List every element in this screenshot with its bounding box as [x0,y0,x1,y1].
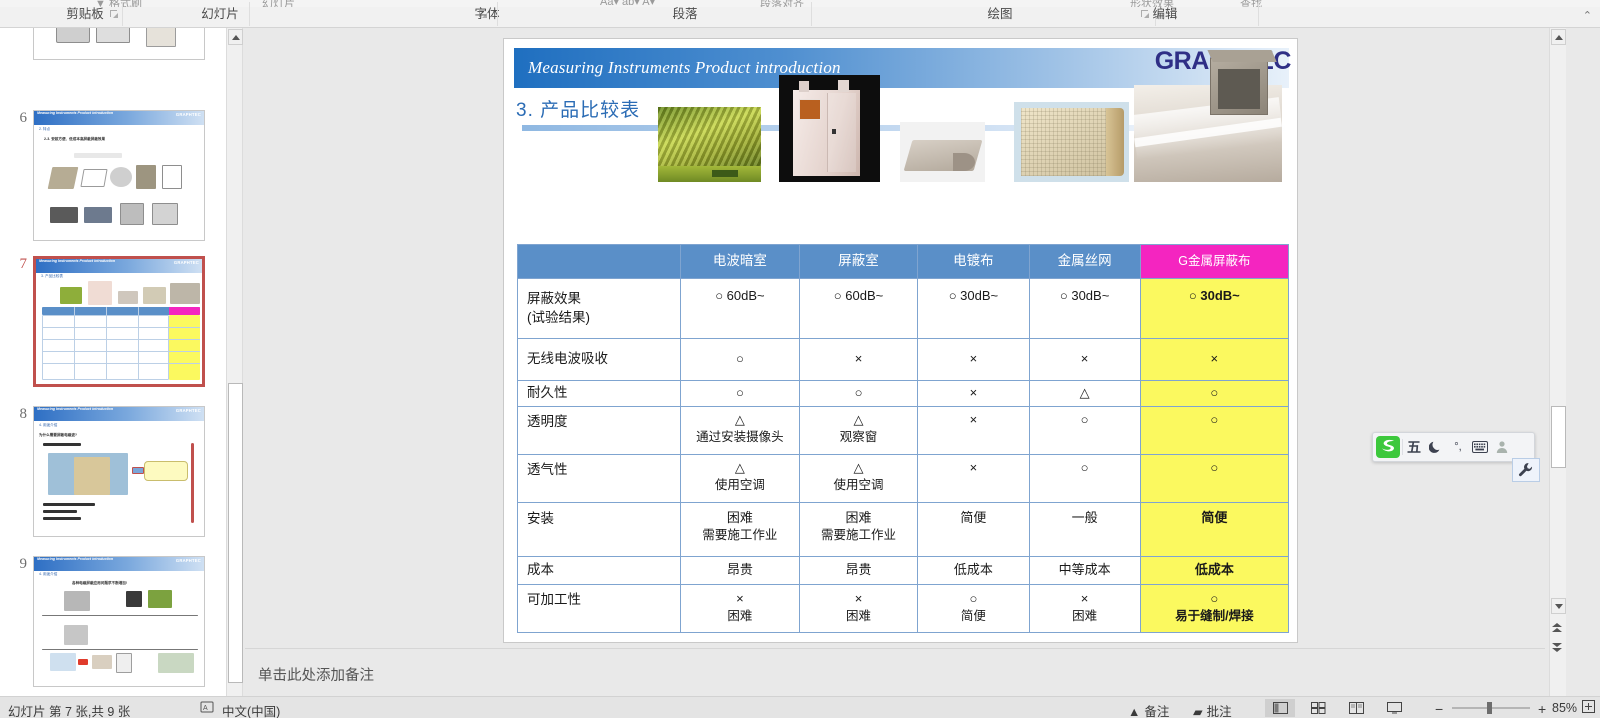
thumbnail-line: 2-3. 安装方便、低成本高屏蔽屏蔽效果 [44,137,105,142]
cell-sub: 观察窗 [802,429,916,446]
cell: △ [1029,381,1140,407]
view-slideshow-button[interactable] [1379,699,1409,717]
thumb-shape [48,167,79,189]
status-bar: 幻灯片 第 7 张,共 9 张 A 中文(中国) ▲备注 ▰批注 − + 85% [0,696,1600,718]
ribbon-group-label: 绘图 [987,7,1012,22]
thumbnail-banner: Measuring Instruments Product introducti… [34,111,204,125]
table-row: 可加工性 ×困难 ×困难 ○简便 ×困难 ○易于缝制/焊接 [518,585,1289,633]
thumbnail-subtitle: 4. 用途介绍 [39,572,57,577]
user-icon[interactable] [1491,434,1513,460]
chamber-shape [146,28,176,47]
cell-main: ○ [736,351,744,366]
thumbnail-line: 为什么需要屏蔽电磁波? [39,433,77,438]
thumb-divider [42,649,198,650]
row-label-cost: 成本 [518,557,681,585]
cell: 昂贵 [681,557,800,585]
table-row: 耐久性 ○ ○ × △ ○ [518,381,1289,407]
cell-main: ○ 30dB~ [949,288,998,303]
cell-main: × [1211,351,1219,366]
notes-toggle-label[interactable]: ▲备注 [1128,701,1169,718]
thumbnail-banner-title: Measuring Instruments Product introducti… [37,557,113,561]
table-header-row: 电波暗室 屏蔽室 电镀布 金属丝网 G金属屏蔽布 [518,245,1289,279]
row-label-transparency: 透明度 [518,407,681,455]
view-reading-button[interactable] [1341,699,1371,717]
slide-thumbnail-selected[interactable]: Measuring Instruments Product introducti… [33,256,205,387]
cell-sub: 困难 [683,608,797,625]
thumb-table-col-line [106,307,107,380]
scroll-down-button[interactable] [1551,598,1566,614]
cell-main: ○ [969,591,977,606]
monitor-shape [56,28,90,43]
table-row: 无线电波吸收 ○ × × × × [518,339,1289,381]
cell-main: ○ 60dB~ [834,288,883,303]
cell-main: △ [735,412,745,427]
thumb-shape [74,153,122,158]
cell: × [918,455,1029,503]
cell-main: × [855,351,863,366]
cell-main: ○ [1210,591,1218,606]
thumbnail-row-9[interactable]: 9 Measuring Instruments Product introduc… [0,556,226,687]
cell: ○ [681,339,800,381]
next-slide-button[interactable] [1549,640,1566,655]
slide-heading: 3. 产品比较表 [516,95,640,122]
wubi-mode-icon[interactable]: 五 [1403,434,1425,460]
ribbon-group-label: 编辑 [1152,7,1177,22]
thumb-table-col-line [138,307,139,380]
thumb-table-highlight-col [169,315,200,380]
font-dialog-launcher-icon[interactable] [479,10,488,19]
table-header-shieldroom: 屏蔽室 [799,245,918,279]
cell-main: × [970,460,978,475]
slide-thumbnail[interactable] [33,28,205,60]
cell: ○简便 [918,585,1029,633]
cell-main: △ [1080,385,1090,400]
cell-main: △ [854,460,864,475]
double-caret-up-icon [1552,623,1563,633]
cell: ○ 30dB~ [1029,279,1140,339]
cell-main: ○ [855,385,863,400]
current-slide[interactable]: Measuring Instruments Product introducti… [503,38,1298,643]
sogou-logo-icon[interactable] [1374,434,1402,460]
cell: ○ 60dB~ [681,279,800,339]
cell-main: 低成本 [1195,562,1234,577]
thumbnail-banner: Measuring Instruments Product introducti… [34,407,204,421]
thumbnail-subtitle: 2. 特点 [39,127,50,132]
ribbon-separator [122,2,123,26]
cell: △使用空调 [799,455,918,503]
cell-main: × [970,351,978,366]
toolbox-wrench-icon[interactable] [1512,458,1540,482]
thumb-photo [158,653,194,673]
cell: △通过安装摄像头 [681,407,800,455]
double-caret-down-icon [1552,643,1563,653]
laptop-shape [96,28,130,43]
clip-label-2: Aa▾ ab▾ A▾ [600,0,655,7]
scrollbar-thumb[interactable] [228,383,243,683]
notes-toggle-text: 备注 [1144,705,1169,718]
table-row: 透明度 △通过安装摄像头 △观察窗 × ○ ○ [518,407,1289,455]
ribbon-group-slides: 幻灯片 [155,7,285,28]
thumb-photo [126,591,142,607]
ribbon-group-label: 幻灯片 [201,7,239,22]
cell-main: 困难 [846,510,872,525]
view-normal-button[interactable] [1265,699,1295,717]
cell-highlight: × [1140,339,1288,381]
thumb-shape [110,167,132,187]
thumb-bullet [43,443,81,446]
table-row: 屏蔽效果 (试验结果) ○ 60dB~ ○ 60dB~ ○ 30dB~ ○ 30… [518,279,1289,339]
svg-text:A: A [203,705,208,712]
thumb-brace [191,443,194,523]
thumb-photo [92,655,112,669]
cell-sub: 困难 [802,608,916,625]
slide-thumbnail[interactable]: Measuring Instruments Product introducti… [33,110,205,241]
cell-main: 中等成本 [1059,562,1111,577]
slide-thumbnail[interactable]: Measuring Instruments Product introducti… [33,406,205,537]
anechoic-chamber-photo[interactable] [658,107,761,182]
comments-toggle-text: 批注 [1207,705,1232,718]
thumb-table-col-line [74,307,75,380]
cell: 简便 [918,503,1029,557]
cell-sub: 使用空调 [683,477,797,494]
cell: ○ [1029,455,1140,503]
cell-highlight: ○易于缝制/焊接 [1140,585,1288,633]
cell: × [918,381,1029,407]
cell-main: ○ 60dB~ [715,288,764,303]
cell: ×困难 [799,585,918,633]
thumb-shape [84,207,112,223]
cell-main: 简便 [960,510,986,525]
row-sublabel-text: (试验结果) [527,310,590,325]
thumbnail-number: 9 [0,556,33,573]
thumbnail-subtitle: 4. 用途介绍 [39,423,57,428]
slide-edit-pane[interactable]: Measuring Instruments Product introducti… [245,28,1545,648]
clip-label-1: 幻灯片 [262,0,295,7]
cell: × [1029,339,1140,381]
notes-splitter[interactable] [245,648,1545,651]
row-label-processability: 可加工性 [518,585,681,633]
cell-highlight: 低成本 [1140,557,1288,585]
ribbon-bar: ▼ 格式刷 幻灯片 Aa▾ ab▾ A▾ 段落对齐 形状效果 查找 剪贴板 幻灯… [0,0,1600,28]
ribbon-clipped-row: ▼ 格式刷 幻灯片 Aa▾ ab▾ A▾ 段落对齐 形状效果 查找 [0,0,1600,7]
thumbnail-row-6[interactable]: 6 Measuring Instruments Product introduc… [0,110,226,241]
cell-main: 昂贵 [846,562,872,577]
cell-main: × [855,591,863,606]
language-label[interactable]: 中文(中国) [222,701,280,718]
metal-mesh-photo[interactable] [1014,102,1129,182]
slide-thumbnail[interactable]: Measuring Instruments Product introducti… [33,556,205,687]
g-shield-box-photo[interactable] [1204,49,1282,121]
thumb-arrow [78,659,88,665]
soft-keyboard-icon[interactable] [1469,434,1491,460]
thumb-arrow [132,467,144,474]
cell-main: △ [854,412,864,427]
slide-position-label: 幻灯片 第 7 张,共 9 张 [8,701,130,718]
thumb-table-row-line [42,363,200,364]
right-gutter [1566,28,1600,696]
cell: ○ [681,381,800,407]
ribbon-group-editing: 编辑 [1080,7,1250,28]
cell-main: × [970,412,978,427]
caret-up-icon [232,35,240,40]
notes-toggle-icon: ▲ [1128,705,1140,718]
thumb-photo [50,653,76,671]
cell-sub: 简便 [920,608,1026,625]
thumb-table-row-line [42,327,200,328]
cell-main: × [1081,591,1089,606]
cell-main: ○ 30dB~ [1060,288,1109,303]
thumbnail-banner-title: Measuring Instruments Product introducti… [37,407,113,411]
thumb-table-row-line [42,339,200,340]
fit-to-window-icon[interactable] [1582,700,1595,718]
slide-thumbnail-pane[interactable]: 6 Measuring Instruments Product introduc… [0,28,226,696]
view-slide-sorter-button[interactable] [1303,699,1333,717]
ribbon-separator [249,2,250,26]
thumb-table-row-line [42,351,200,352]
thumbnail-row-8[interactable]: 8 Measuring Instruments Product introduc… [0,406,226,537]
table-header-metalmesh: 金属丝网 [1029,245,1140,279]
moon-icon[interactable] [1425,434,1447,460]
cell-sub: 需要施工作业 [683,527,797,544]
plated-cloth-photo[interactable] [900,122,985,182]
cell-main: ○ [1210,412,1218,427]
cell: △观察窗 [799,407,918,455]
comments-toggle-label[interactable]: ▰批注 [1193,701,1232,718]
cell: △使用空调 [681,455,800,503]
caret-down-icon [1555,604,1563,609]
cell-highlight: 简便 [1140,503,1288,557]
cell: 一般 [1029,503,1140,557]
thumb-photo [170,283,200,304]
cell: ×困难 [681,585,800,633]
thumb-photo [74,457,110,495]
thumbnail-number: 7 [0,256,33,273]
cell: 困难需要施工作业 [799,503,918,557]
thumb-bullet [43,517,81,520]
cell-main: 昂贵 [727,562,753,577]
table-row: 安装 困难需要施工作业 困难需要施工作业 简便 一般 简便 [518,503,1289,557]
table-row: 透气性 △使用空调 △使用空调 × ○ ○ [518,455,1289,503]
clipboard-dialog-launcher-icon[interactable] [110,10,119,19]
thumbnail-line: 各种电磁屏蔽应用问题求不断增加! [72,581,127,586]
cell-main: ○ [736,385,744,400]
thumb-photo [148,590,172,608]
caret-up-icon [1555,35,1563,40]
scroll-up-button[interactable] [1551,29,1566,45]
thumbnail-logo: GRAPHTEC [176,112,201,117]
thumb-shape [162,165,182,189]
ribbon-group-label: 段落 [672,7,697,22]
thumb-photo [60,287,82,304]
cell-highlight: ○ [1140,407,1288,455]
thumb-bullet [43,510,77,513]
row-label-durability: 耐久性 [518,381,681,407]
cell-sub: 困难 [1032,608,1138,625]
cell-main: ○ [1081,460,1089,475]
row-label-shield-effect: 屏蔽效果 (试验结果) [518,279,681,339]
cell: ○ [799,381,918,407]
cell-main: ○ [1210,460,1218,475]
cell: ○ [1029,407,1140,455]
comment-icon: ▰ [1193,705,1203,718]
cell-main: 困难 [727,510,753,525]
cell-main: ○ [1081,412,1089,427]
thumb-photo [116,653,132,673]
cell: ○ 30dB~ [918,279,1029,339]
cell-sub: 需要施工作业 [802,527,916,544]
cell-sub: 易于缝制/焊接 [1143,608,1286,625]
cell: ×困难 [1029,585,1140,633]
thumbnail-banner-title: Measuring Instruments Product introducti… [39,259,115,263]
scrollbar-thumb[interactable] [1551,406,1566,468]
clip-label-3: 段落对齐 [760,0,804,7]
work-area: 6 Measuring Instruments Product introduc… [0,28,1600,696]
table-header-blank [518,245,681,279]
table-header-gcloth: G金属屏蔽布 [1140,245,1288,279]
cell-highlight: ○ [1140,381,1288,407]
table-header-anechoic: 电波暗室 [681,245,800,279]
thumbnail-banner: Measuring Instruments Product introducti… [36,259,202,273]
slide-vertical-scrollbar[interactable] [1549,28,1566,696]
cell: 昂贵 [799,557,918,585]
cell: 低成本 [918,557,1029,585]
row-label-breathability: 透气性 [518,455,681,503]
notes-placeholder[interactable]: 单击此处添加备注 [258,664,374,685]
thumb-photo [118,291,138,304]
row-label-wave-absorb: 无线电波吸收 [518,339,681,381]
ime-floating-toolbar[interactable]: 五 °, [1372,432,1535,462]
cell-main: ○ [1210,385,1218,400]
cell-main: 一般 [1072,510,1098,525]
thumb-photo [88,281,112,305]
powerpoint-window: ▼ 格式刷 幻灯片 Aa▾ ab▾ A▾ 段落对齐 形状效果 查找 剪贴板 幻灯… [0,0,1600,718]
thumbnail-row-partial[interactable] [0,28,226,60]
thumb-photo [64,591,90,611]
thumbnail-number: 6 [0,110,33,127]
cell: × [918,407,1029,455]
cell-main: ○ 30dB~ [1189,288,1240,303]
thumbnail-logo: GRAPHTEC [176,408,201,413]
zoom-slider-knob[interactable] [1487,702,1492,714]
thumbnail-logo: GRAPHTEC [174,260,199,265]
thumb-divider [42,615,198,616]
cell-highlight: ○ [1140,455,1288,503]
ribbon-group-label: 剪贴板 [66,7,104,22]
cell-sub: 通过安装摄像头 [683,429,797,446]
cell: × [918,339,1029,381]
row-label-text: 屏蔽效果 [527,291,581,306]
cell-main: × [970,385,978,400]
thumb-shape [136,165,156,189]
table-header-platedcloth: 电镀布 [918,245,1029,279]
cell: × [799,339,918,381]
zoom-out-button[interactable]: − [1435,701,1443,717]
thumb-table-highlight-header [169,307,200,315]
thumbnail-subtitle: 3. 产品比较表 [41,274,63,279]
clip-label-4: 形状效果 [1130,0,1174,7]
thumbnail-banner: Measuring Instruments Product introducti… [34,557,204,571]
cell-main: × [1081,351,1089,366]
thumb-shape [80,169,107,187]
thumbnail-scrollbar[interactable] [226,28,243,696]
punctuation-icon[interactable]: °, [1447,434,1469,460]
cell: 中等成本 [1029,557,1140,585]
thumbnail-number: 8 [0,406,33,423]
cell: ○ 60dB~ [799,279,918,339]
cell-highlight: ○ 30dB~ [1140,279,1288,339]
thumb-shape [152,203,178,225]
thumb-bullet [43,503,95,506]
thumbnail-banner-title: Measuring Instruments Product introducti… [37,111,113,115]
table-row: 成本 昂贵 昂贵 低成本 中等成本 低成本 [518,557,1289,585]
collapse-ribbon-icon[interactable]: ⌃ [1583,9,1592,22]
thumb-shape [50,207,78,223]
thumb-callout [144,461,188,481]
clip-label-0: ▼ 格式刷 [95,0,142,7]
cell-main: 简便 [1201,510,1227,525]
row-label-installation: 安装 [518,503,681,557]
product-comparison-table[interactable]: 电波暗室 屏蔽室 电镀布 金属丝网 G金属屏蔽布 屏蔽效果 (试验结果) [517,244,1289,633]
zoom-percent-label[interactable]: 85% [1552,701,1577,715]
notes-pane[interactable]: 单击此处添加备注 [245,652,1545,696]
thumbnail-logo: GRAPHTEC [176,558,201,563]
cell: 困难需要施工作业 [681,503,800,557]
cell-main: △ [735,460,745,475]
zoom-in-button[interactable]: + [1538,701,1546,717]
thumb-photo [64,625,88,645]
spellcheck-icon[interactable]: A [200,700,214,718]
shield-room-photo[interactable] [779,75,880,182]
cell-main: × [736,591,744,606]
thumbnail-row-7[interactable]: 7 Measuring Instruments Product introduc… [0,256,226,387]
scroll-up-button[interactable] [228,29,243,45]
ribbon-group-clipboard: 剪贴板 [20,7,150,28]
thumb-shape [120,203,144,225]
ribbon-separator [1258,2,1259,26]
previous-slide-button[interactable] [1549,620,1566,635]
thumb-photo [143,287,166,304]
cell-sub: 使用空调 [802,477,916,494]
cell-main: 低成本 [954,562,993,577]
